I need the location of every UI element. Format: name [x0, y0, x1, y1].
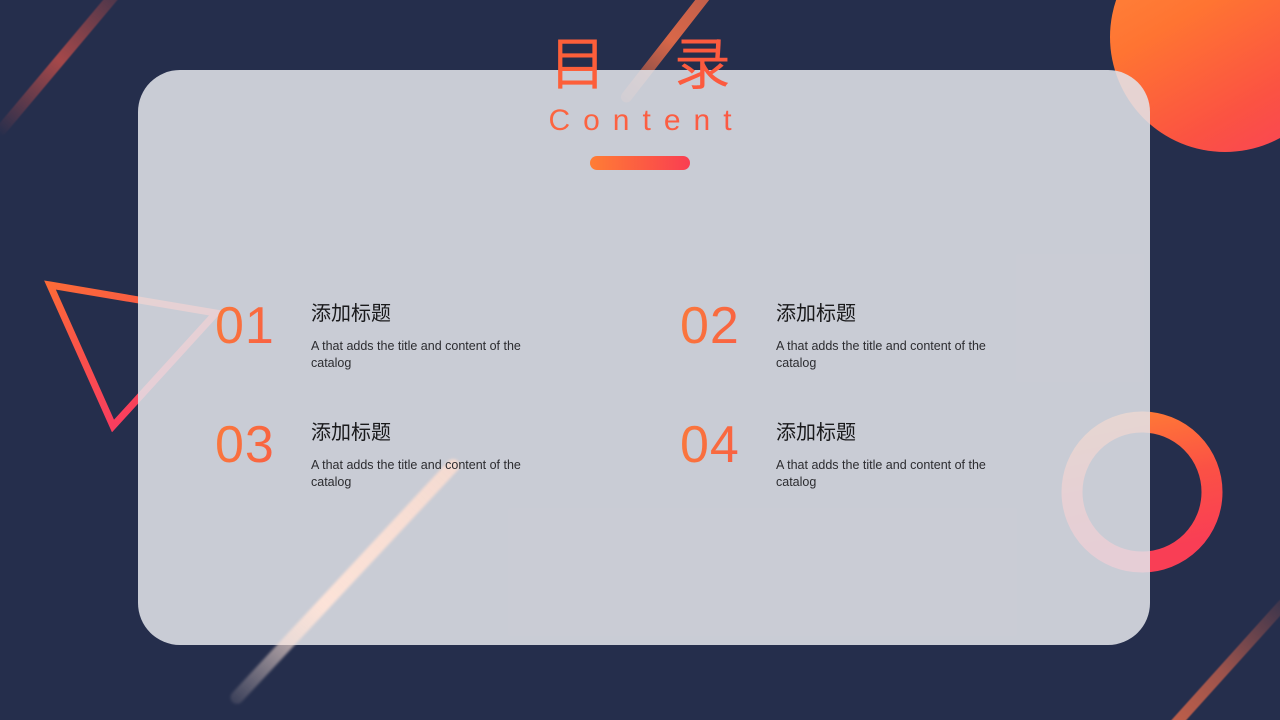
- agenda-item-title: 添加标题: [776, 302, 1100, 326]
- slide-header: 目 录 Content: [0, 36, 1280, 170]
- agenda-item-01[interactable]: 01 添加标题 A that adds the title and conten…: [215, 300, 635, 371]
- agenda-item-04[interactable]: 04 添加标题 A that adds the title and conten…: [680, 419, 1100, 490]
- agenda-item-02[interactable]: 02 添加标题 A that adds the title and conten…: [680, 300, 1100, 371]
- page-title-cn: 目 录: [0, 36, 1280, 95]
- agenda-item-body: 添加标题 A that adds the title and content o…: [776, 419, 1100, 490]
- agenda-item-03[interactable]: 03 添加标题 A that adds the title and conten…: [215, 419, 635, 490]
- agenda-item-title: 添加标题: [776, 421, 1100, 445]
- title-underline-accent: [590, 156, 690, 170]
- agenda-item-description: A that adds the title and content of the…: [311, 338, 523, 371]
- agenda-item-body: 添加标题 A that adds the title and content o…: [311, 300, 635, 371]
- content-slide: 目 录 Content 01 添加标题 A that adds the titl…: [0, 0, 1280, 720]
- agenda-item-number: 02: [680, 300, 776, 352]
- agenda-item-number: 03: [215, 419, 311, 471]
- agenda-item-title: 添加标题: [311, 421, 635, 445]
- page-title-en: Content: [0, 104, 1280, 138]
- agenda-item-description: A that adds the title and content of the…: [776, 338, 988, 371]
- agenda-item-body: 添加标题 A that adds the title and content o…: [311, 419, 635, 490]
- agenda-item-number: 04: [680, 419, 776, 471]
- agenda-item-description: A that adds the title and content of the…: [776, 457, 988, 490]
- agenda-item-description: A that adds the title and content of the…: [311, 457, 523, 490]
- agenda-item-grid: 01 添加标题 A that adds the title and conten…: [215, 300, 1075, 491]
- diagonal-stripe-decoration-bottom-right: [1138, 597, 1280, 720]
- agenda-item-title: 添加标题: [311, 302, 635, 326]
- agenda-item-number: 01: [215, 300, 311, 352]
- agenda-item-body: 添加标题 A that adds the title and content o…: [776, 300, 1100, 371]
